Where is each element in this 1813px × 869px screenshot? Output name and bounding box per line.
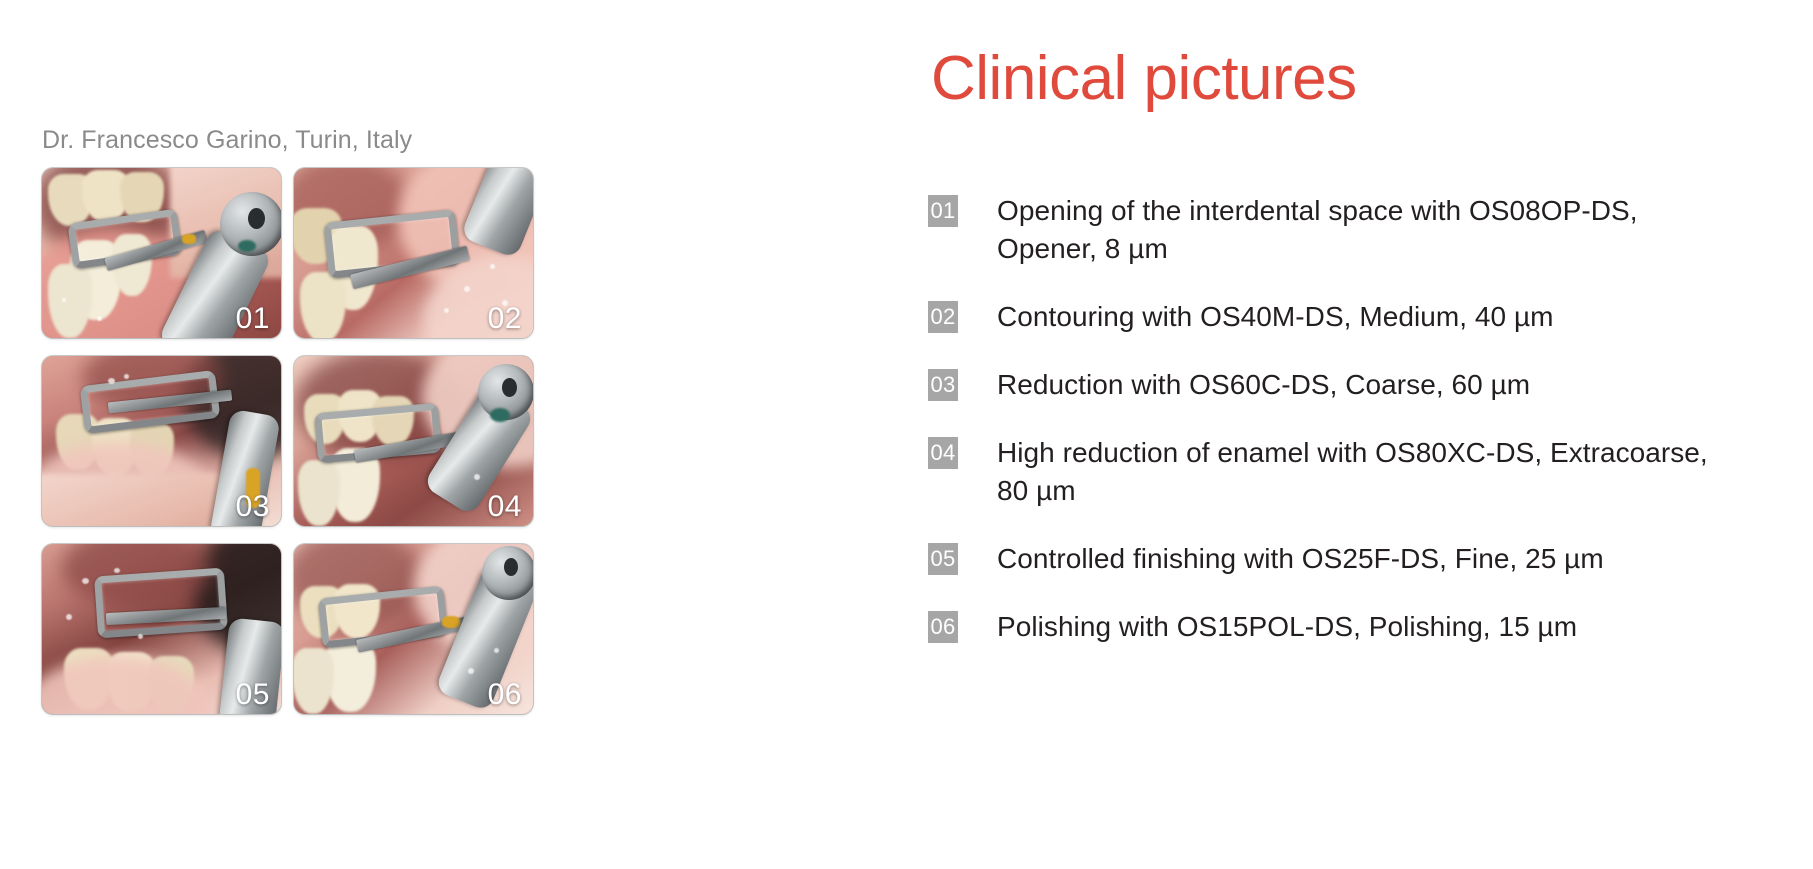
step-badge-05: 05 [928, 543, 958, 575]
step-text-01: Opening of the interdental space with OS… [997, 192, 1728, 268]
step-text-04: High reduction of enamel with OS80XC-DS,… [997, 434, 1728, 510]
list-item: 03 Reduction with OS60C-DS, Coarse, 60 µ… [928, 366, 1728, 404]
clinical-photo-02-number: 02 [488, 302, 522, 335]
steps-panel: Clinical pictures 01 Opening of the inte… [928, 0, 1748, 869]
step-text-02: Contouring with OS40M-DS, Medium, 40 µm [997, 298, 1554, 336]
clinical-photo-01-number: 01 [236, 302, 270, 335]
clinical-photo-06[interactable]: 06 [294, 544, 533, 714]
list-item: 02 Contouring with OS40M-DS, Medium, 40 … [928, 298, 1728, 336]
step-badge-04: 04 [928, 437, 958, 469]
photo-panel: Dr. Francesco Garino, Turin, Italy [42, 0, 602, 869]
clinical-photo-03-number: 03 [236, 490, 270, 523]
step-badge-01: 01 [928, 195, 958, 227]
procedure-step-list: 01 Opening of the interdental space with… [928, 192, 1728, 676]
photo-credit: Dr. Francesco Garino, Turin, Italy [42, 126, 412, 155]
step-badge-03: 03 [928, 369, 958, 401]
page-title: Clinical pictures [931, 46, 1357, 111]
clinical-photo-05[interactable]: 05 [42, 544, 281, 714]
clinical-photo-06-number: 06 [488, 678, 522, 711]
step-text-06: Polishing with OS15POL-DS, Polishing, 15… [997, 608, 1577, 646]
clinical-photo-01[interactable]: 01 [42, 168, 281, 338]
list-item: 06 Polishing with OS15POL-DS, Polishing,… [928, 608, 1728, 646]
list-item: 04 High reduction of enamel with OS80XC-… [928, 434, 1728, 510]
list-item: 01 Opening of the interdental space with… [928, 192, 1728, 268]
clinical-photo-05-number: 05 [236, 678, 270, 711]
clinical-photo-03[interactable]: 03 [42, 356, 281, 526]
clinical-photo-04-number: 04 [488, 490, 522, 523]
list-item: 05 Controlled finishing with OS25F-DS, F… [928, 540, 1728, 578]
clinical-photo-04[interactable]: 04 [294, 356, 533, 526]
step-badge-02: 02 [928, 301, 958, 333]
clinical-photo-grid: 01 [42, 168, 542, 714]
step-text-05: Controlled finishing with OS25F-DS, Fine… [997, 540, 1604, 578]
step-text-03: Reduction with OS60C-DS, Coarse, 60 µm [997, 366, 1530, 404]
step-badge-06: 06 [928, 611, 958, 643]
clinical-pictures-slide: Dr. Francesco Garino, Turin, Italy [0, 0, 1813, 869]
clinical-photo-02[interactable]: 02 [294, 168, 533, 338]
